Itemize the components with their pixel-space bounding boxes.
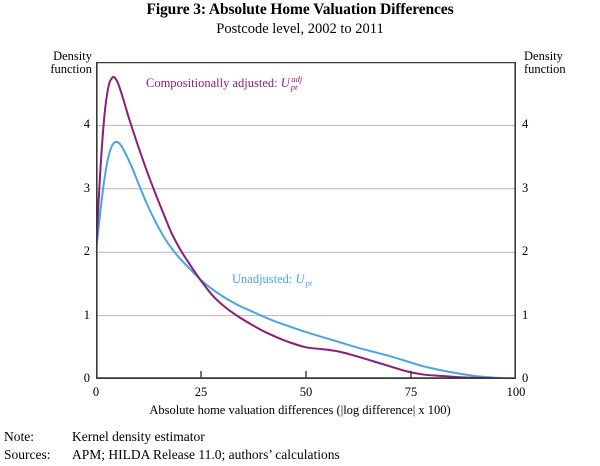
sources-row: Sources: APM; HILDA Release 11.0; author… xyxy=(4,446,340,464)
y-axis-caption-right: Density function xyxy=(524,50,594,76)
y-axis-caption-left-line2: function xyxy=(46,63,92,76)
y-tick-label-right: 2 xyxy=(522,245,548,257)
sources-text: APM; HILDA Release 11.0; authors’ calcul… xyxy=(72,446,340,464)
note-label: Note: xyxy=(4,428,72,446)
x-tick-label: 50 xyxy=(286,386,326,398)
y-axis-caption-left: Density function xyxy=(46,50,92,76)
annotation-unadjusted-symbol: U xyxy=(296,272,306,286)
sources-label: Sources: xyxy=(4,446,72,464)
y-tick-label-left: 4 xyxy=(64,118,90,130)
annotation-unadjusted-subscript: pt xyxy=(306,278,313,288)
y-tick-label-right: 1 xyxy=(522,309,548,321)
plot-area xyxy=(96,62,516,379)
annotation-compositionally-adjusted: Compositionally adjusted: Uptadj xyxy=(146,76,308,91)
x-tick-label: 100 xyxy=(496,386,536,398)
annotation-unadjusted: Unadjusted: Upt xyxy=(232,272,312,287)
annotation-adjusted-text: Compositionally adjusted: xyxy=(146,76,281,90)
x-tick-label: 75 xyxy=(391,386,431,398)
x-tick-label: 0 xyxy=(76,386,116,398)
figure-container: Figure 3: Absolute Home Valuation Differ… xyxy=(0,0,600,466)
y-tick-label-left: 1 xyxy=(64,309,90,321)
density-curve xyxy=(96,142,516,379)
density-plot-svg xyxy=(96,62,516,379)
y-tick-label-right: 3 xyxy=(522,182,548,194)
figure-notes: Note: Kernel density estimator Sources: … xyxy=(4,428,340,464)
x-tick-label: 25 xyxy=(181,386,221,398)
annotation-unadjusted-text: Unadjusted: xyxy=(232,272,296,286)
y-tick-label-left: 2 xyxy=(64,245,90,257)
annotation-adjusted-superscript: adj xyxy=(291,74,302,84)
figure-subtitle: Postcode level, 2002 to 2011 xyxy=(0,21,600,38)
annotation-adjusted-symbol: U xyxy=(281,76,291,90)
density-curves xyxy=(96,77,516,379)
note-row: Note: Kernel density estimator xyxy=(4,428,340,446)
note-text: Kernel density estimator xyxy=(72,428,340,446)
y-tick-label-left: 0 xyxy=(64,372,90,384)
y-tick-label-right: 4 xyxy=(522,118,548,130)
x-axis-label: Absolute home valuation differences (|lo… xyxy=(0,403,600,418)
y-axis-caption-right-line2: function xyxy=(524,63,594,76)
y-tick-label-right: 0 xyxy=(522,372,548,384)
x-tick-marks xyxy=(201,371,411,378)
y-tick-label-left: 3 xyxy=(64,182,90,194)
figure-title: Figure 3: Absolute Home Valuation Differ… xyxy=(0,1,600,19)
